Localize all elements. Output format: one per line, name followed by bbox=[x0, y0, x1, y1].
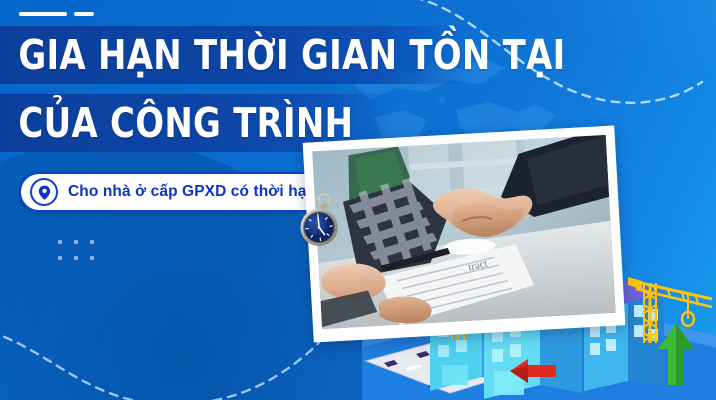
location-pin-glyph bbox=[38, 185, 51, 200]
decor-dot bbox=[74, 240, 78, 244]
subtitle-badge-label: Cho nhà ở cấp GPXD có thời hạn bbox=[68, 183, 316, 201]
headline-line-1: GIA HẠN THỜI GIAN TỒN TẠI bbox=[0, 35, 566, 76]
location-pin-icon bbox=[30, 178, 58, 206]
pocket-watch-icon bbox=[289, 190, 351, 252]
dashed-arc-bottom-left bbox=[0, 288, 320, 400]
headline-line-2: CỦA CÔNG TRÌNH bbox=[0, 103, 353, 144]
headline-row-1: GIA HẠN THỜI GIAN TỒN TẠI bbox=[0, 26, 716, 84]
decor-dot-grid bbox=[58, 240, 94, 260]
decor-dash-short bbox=[74, 12, 94, 16]
decor-dot bbox=[58, 240, 62, 244]
decor-dot bbox=[58, 256, 62, 260]
handshake-photo-artwork: tract bbox=[312, 135, 615, 329]
handshake-photo-card: tract bbox=[303, 125, 626, 342]
decor-dashes bbox=[19, 12, 94, 16]
promo-banner: GIA HẠN THỜI GIAN TỒN TẠI CỦA CÔNG TRÌNH… bbox=[0, 0, 716, 400]
handshake-photo: tract bbox=[312, 135, 615, 329]
decor-dash-long bbox=[19, 12, 67, 16]
decor-dot bbox=[74, 256, 78, 260]
decor-dot bbox=[90, 240, 94, 244]
decor-dot bbox=[90, 256, 94, 260]
illustration-cluster: tract bbox=[292, 130, 716, 400]
